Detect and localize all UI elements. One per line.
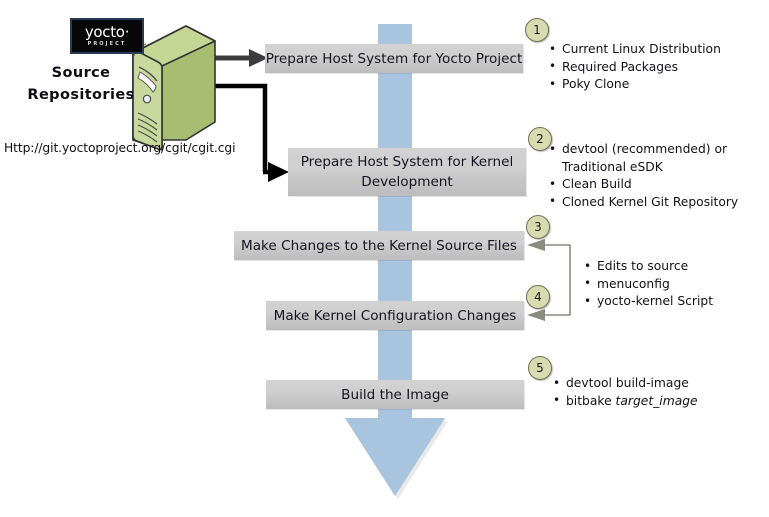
- yocto-logo-subtext: PROJECT: [88, 42, 127, 47]
- step-box-1-label: Prepare Host System for Yocto Project: [266, 49, 523, 69]
- step-box-3[interactable]: Make Changes to the Kernel Source Files: [234, 231, 524, 260]
- step-number-3: 3: [526, 215, 550, 239]
- step-box-1[interactable]: Prepare Host System for Yocto Project: [265, 44, 523, 73]
- bullet-text: bitbake: [566, 394, 616, 408]
- bullet-item: bitbake target_image: [553, 393, 698, 411]
- step-box-3-label: Make Changes to the Kernel Source Files: [241, 236, 517, 256]
- step-number-1: 1: [525, 18, 549, 42]
- step-bullets-2: devtool (recommended) or Traditional eSD…: [549, 141, 738, 211]
- diagram-canvas: yocto· PROJECT Source Repositories Http:…: [0, 0, 769, 517]
- step-number-3-text: 3: [534, 220, 542, 234]
- bullet-item: devtool build-image: [553, 375, 698, 393]
- yocto-logo-text: yocto: [85, 23, 125, 41]
- step-box-2-label-line1: Prepare Host System for Kernel: [301, 152, 514, 172]
- step-box-4-label: Make Kernel Configuration Changes: [274, 306, 517, 326]
- yocto-logo-dot: ·: [125, 23, 129, 41]
- server-tower-icon: [133, 26, 215, 150]
- step-box-2[interactable]: Prepare Host System for Kernel Developme…: [288, 148, 526, 196]
- bullet-item: Required Packages: [549, 59, 721, 77]
- bullet-item: Edits to source: [584, 258, 713, 276]
- bullet-text: devtool build-image: [566, 376, 689, 390]
- source-repositories-label: Source Repositories: [22, 62, 140, 106]
- bullet-item: menuconfig: [584, 276, 713, 294]
- step-box-5[interactable]: Build the Image: [266, 380, 524, 409]
- source-repositories-line2: Repositories: [22, 84, 140, 106]
- bullet-item: Current Linux Distribution: [549, 41, 721, 59]
- source-repositories-url: Http://git.yoctoproject.org/cgit/cgit.cg…: [4, 141, 235, 155]
- bullet-item-continuation: Traditional eSDK: [549, 159, 738, 177]
- bullet-item: yocto-kernel Script: [584, 293, 713, 311]
- step-number-5: 5: [528, 356, 552, 380]
- yocto-project-logo: yocto· PROJECT: [70, 18, 144, 54]
- step-number-2-text: 2: [536, 132, 544, 146]
- yocto-logo-word: yocto·: [85, 25, 129, 40]
- step-number-4: 4: [526, 285, 550, 309]
- step-number-1-text: 1: [533, 23, 541, 37]
- bullet-item: devtool (recommended) or: [549, 141, 738, 159]
- step-bullets-5: devtool build-image bitbake target_image: [553, 375, 698, 410]
- source-repositories-line1: Source: [22, 62, 140, 84]
- bullet-text-italic: target_image: [616, 394, 698, 408]
- bullet-item: Poky Clone: [549, 76, 721, 94]
- step-bullets-1: Current Linux Distribution Required Pack…: [549, 41, 721, 94]
- bullet-item: Clean Build: [549, 176, 738, 194]
- step-number-5-text: 5: [536, 361, 544, 375]
- step-number-4-text: 4: [534, 290, 542, 304]
- shared-bullets-steps-3-4: Edits to source menuconfig yocto-kernel …: [584, 258, 713, 311]
- step-box-5-label: Build the Image: [341, 385, 449, 405]
- bullet-item: Cloned Kernel Git Repository: [549, 194, 738, 212]
- step-box-4[interactable]: Make Kernel Configuration Changes: [266, 301, 524, 330]
- step-box-2-label-line2: Development: [361, 172, 453, 192]
